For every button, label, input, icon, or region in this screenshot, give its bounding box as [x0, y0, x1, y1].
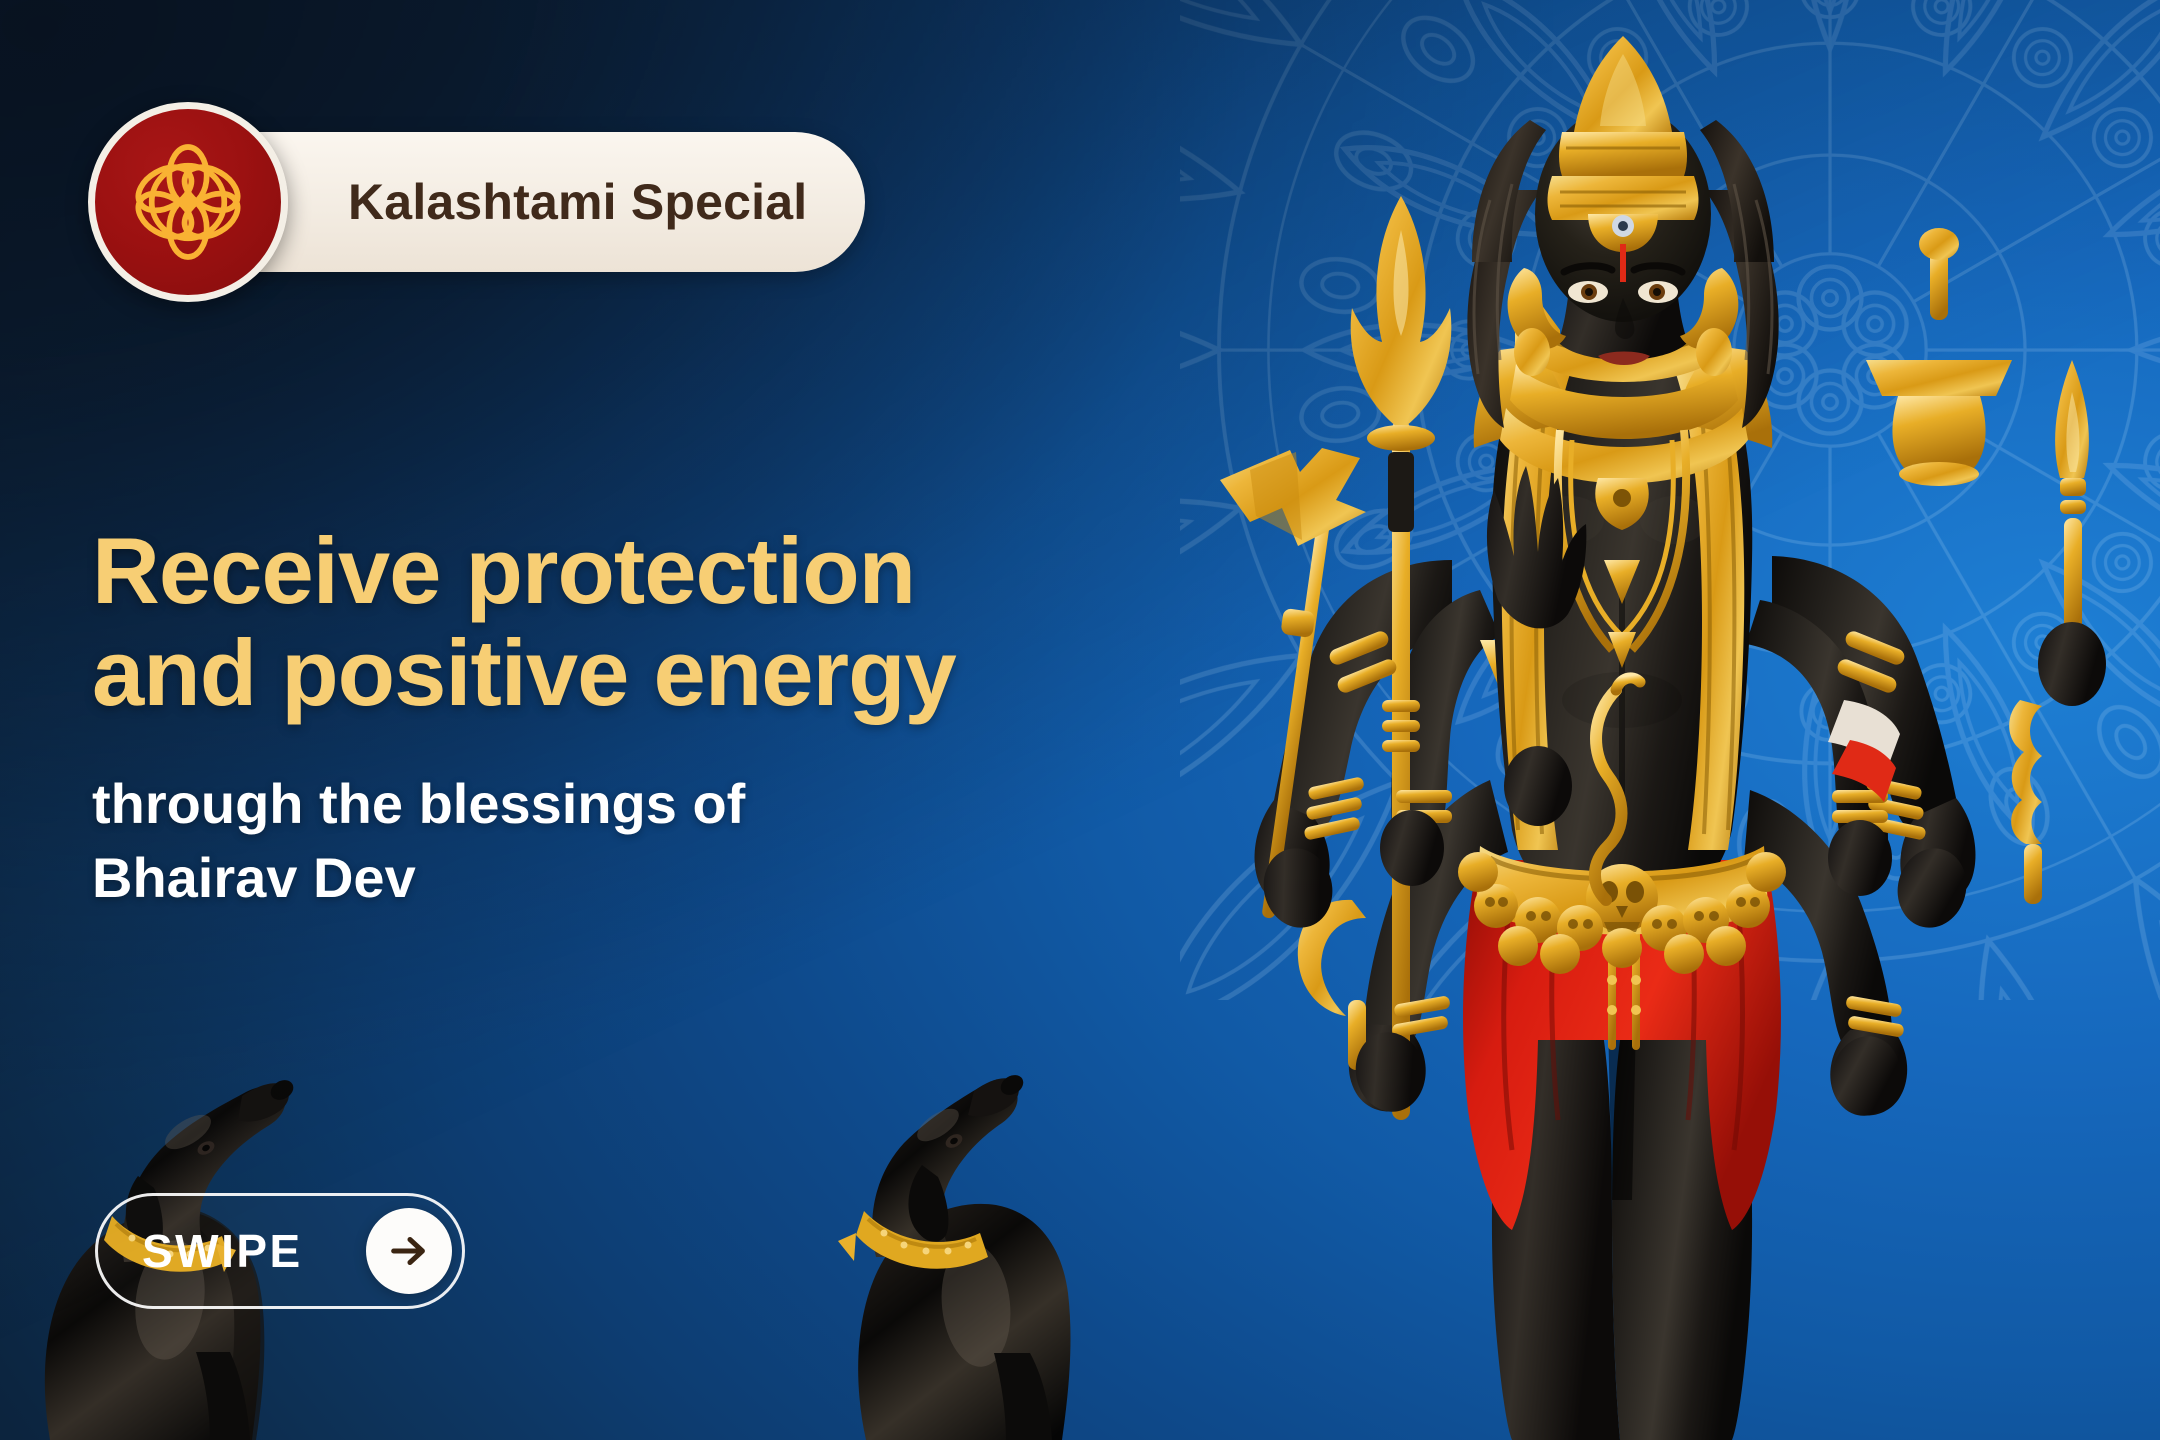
damaru-weapon — [2009, 700, 2042, 904]
headline-line-2: and positive energy — [92, 622, 1102, 724]
subheadline-line-2: Bhairav Dev — [92, 841, 1102, 915]
subheadline-line-1: through the blessings of — [92, 772, 745, 835]
arrow-right-icon — [386, 1228, 432, 1274]
page-title: Receive protection and positive energy — [92, 520, 1102, 723]
black-dog-right — [780, 1005, 1100, 1440]
brand-logo — [88, 102, 288, 302]
brand-badge[interactable]: Kalashtami Special — [88, 118, 288, 286]
swipe-label: SWIPE — [142, 1224, 303, 1278]
bell-weapon — [1866, 228, 2012, 486]
page-subtitle: through the blessings of Bhairav Dev — [92, 767, 1102, 915]
headline-line-1: Receive protection — [92, 518, 915, 623]
copy-block: Receive protection and positive energy t… — [92, 520, 1102, 915]
promo-slide: Kalashtami Special Receive protection an — [0, 0, 2160, 1440]
lotus-rosette-icon — [122, 136, 254, 268]
swipe-arrow-circle[interactable] — [366, 1208, 452, 1294]
spear-weapon — [2055, 360, 2089, 638]
bhairav-deity-illustration — [1060, 0, 2160, 1440]
badge-label: Kalashtami Special — [348, 173, 807, 231]
swipe-button[interactable]: SWIPE — [95, 1193, 465, 1309]
